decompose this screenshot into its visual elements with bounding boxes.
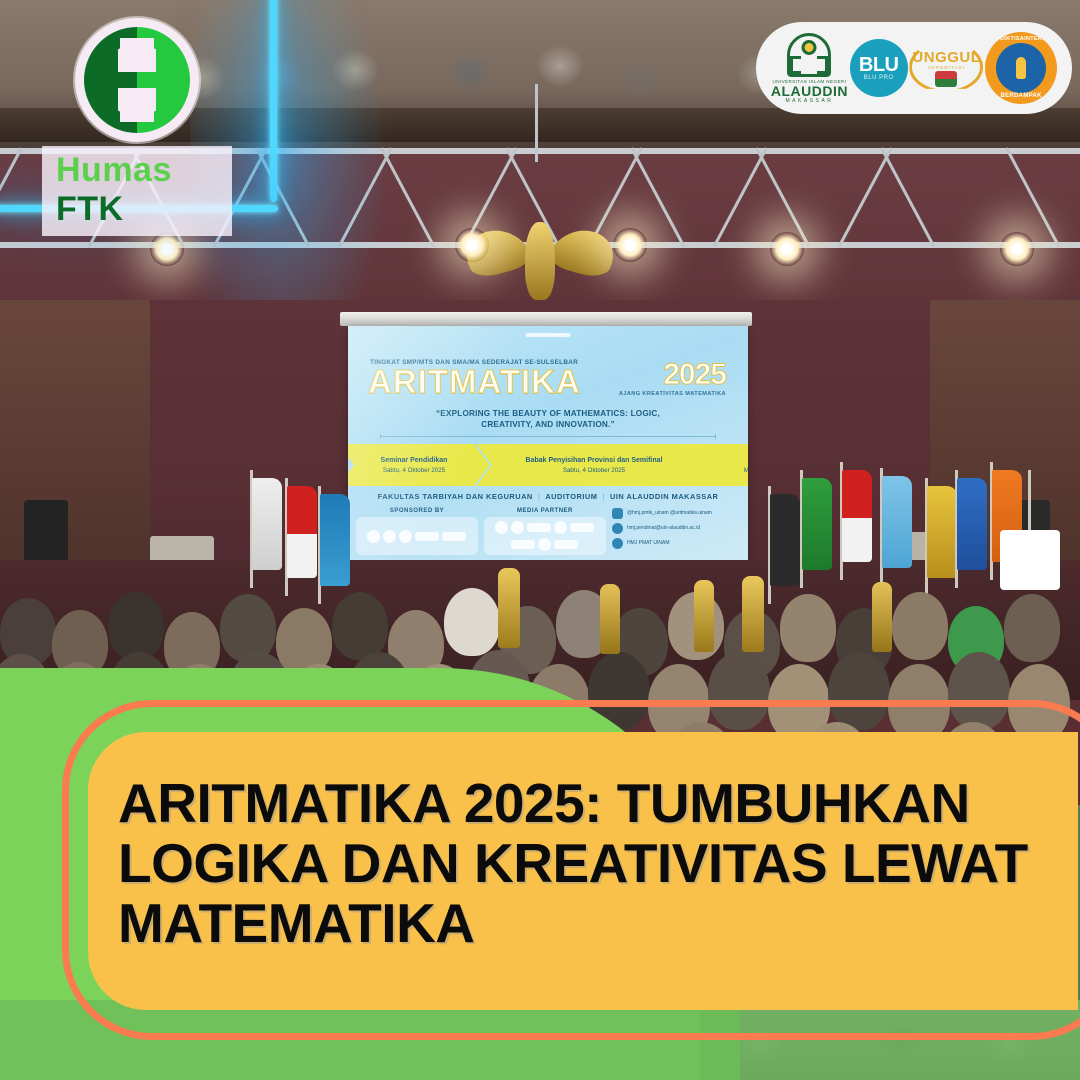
accreditation-logo-pill: UNIVERSITAS ISLAM NEGERI ALAUDDIN MAKASS…: [756, 22, 1072, 114]
poster-canvas: TINGKAT SMP/MTS DAN SMA/MA SEDERAJAT SE-…: [0, 0, 1080, 1080]
poster-stage-chevrons: Seminar Pendidikan Sabtu, 4 Oktober 2025…: [348, 444, 748, 486]
contact-text: @hmj.pmtk_uinam @aritmatika.uinam: [627, 510, 712, 516]
poster-quote-line1: “EXPLORING THE BEAUTY OF MATHEMATICS: LO…: [348, 408, 748, 419]
poster-title: ARITMATIKA: [368, 365, 748, 398]
media-logo-icon: [554, 540, 578, 549]
diktisaintek-berdampak-icon: DIKTISAINTEK BERDAMPAK: [985, 32, 1057, 104]
headline-card: ARITMATIKA 2025: TUMBUHKAN LOGIKA DAN KR…: [88, 732, 1078, 1010]
venue-room: AUDITORIUM: [540, 492, 602, 501]
headline-line-1: ARITMATIKA 2025: TUMBUHKAN: [118, 774, 1028, 834]
uin-line3: MAKASSAR: [786, 98, 834, 104]
media-logo-icon: [527, 523, 551, 532]
dsb-line2: BERDAMPAK: [985, 93, 1057, 99]
media-partner-heading: MEDIA PARTNER: [484, 508, 606, 514]
stage-date: Sabtu, 4 Oktober 2025: [563, 467, 625, 474]
sponsor-logo-icon: [415, 532, 439, 541]
contact-row: @hmj.pmtk_uinam @aritmatika.uinam: [612, 508, 740, 519]
instagram-icon: [612, 508, 623, 519]
uin-alauddin-logo: UNIVERSITAS ISLAM NEGERI ALAUDDIN MAKASS…: [771, 33, 848, 104]
contact-block: @hmj.pmtk_uinam @aritmatika.uinam hmj.pe…: [612, 508, 740, 562]
media-logo-icon: [511, 521, 524, 534]
poster-quote-line2: CREATIVITY, AND INNOVATION.”: [348, 419, 748, 430]
uin-line2: ALAUDDIN: [771, 84, 848, 98]
contact-text: hmj.pendmat@uin-alauddin.ac.id: [627, 525, 700, 531]
stage-chevron: Babak Penyisihan Provinsi dan Semifinal …: [476, 444, 712, 486]
stage-chevron: Seminar Pendidikan Sabtu, 4 Oktober 2025: [348, 444, 490, 486]
media-logo-icon: [554, 521, 567, 534]
venue-faculty: FAKULTAS TARBIYAH DAN KEGURUAN: [373, 492, 538, 501]
media-logo-icon: [511, 540, 535, 549]
stage-spotlight: [150, 232, 184, 266]
blu-badge-icon: BLU BLU PRO: [850, 39, 908, 97]
blu-line2: BLU PRO: [864, 75, 894, 81]
poster-divider: [380, 436, 716, 437]
stage-date: Minggu, 5 Oktober 2025: [744, 467, 748, 474]
sponsor-block: SPONSORED BY: [356, 508, 478, 562]
venue-university: UIN ALAUDDIN MAKASSAR: [605, 492, 723, 501]
media-logo-icon: [538, 538, 551, 551]
stage-chevron: Babak Final Minggu, 5 Oktober 2025: [688, 444, 748, 486]
stage-spotlight: [613, 228, 647, 262]
logo-label-ftk: FTK: [56, 190, 124, 228]
youtube-icon: [612, 538, 623, 549]
poster-venue: FAKULTAS TARBIYAH DAN KEGURUAN|AUDITORIU…: [348, 492, 748, 501]
sponsor-logo-icon: [383, 530, 396, 543]
blu-line1: BLU: [859, 55, 899, 75]
stage-date: Sabtu, 4 Oktober 2025: [383, 467, 445, 474]
unggul-laurel-icon: UNGGUL AKREDITASI: [909, 39, 983, 97]
poster-footer: SPONSORED BY MEDIA PARTNER: [348, 508, 748, 562]
projected-poster: TINGKAT SMP/MTS DAN SMA/MA SEDERAJAT SE-…: [348, 326, 748, 562]
headline-line-2: LOGIKA DAN KREATIVITAS LEWAT: [118, 834, 1028, 894]
sponsor-logos: [356, 517, 478, 555]
sponsor-heading: SPONSORED BY: [356, 508, 478, 514]
poster-year: 2025: [663, 358, 726, 392]
stage-spotlight: [770, 232, 804, 266]
trophy: [600, 584, 620, 654]
projector-screen-housing: [340, 312, 752, 326]
poster-quote: “EXPLORING THE BEAUTY OF MATHEMATICS: LO…: [348, 408, 748, 430]
poster-tingkat: TINGKAT SMP/MTS DAN SMA/MA SEDERAJAT SE-…: [370, 359, 748, 366]
stage-spotlight: [1000, 232, 1034, 266]
humas-ftk-label: Humas FTK: [42, 146, 232, 236]
trophy: [872, 582, 892, 652]
humas-ftk-logo: Humas FTK: [42, 18, 232, 236]
media-partner-block: MEDIA PARTNER: [484, 508, 606, 562]
email-icon: [612, 523, 623, 534]
uin-alauddin-dome-icon: [787, 33, 831, 77]
neon-bracket-vertical: [270, 0, 277, 202]
trophy: [694, 580, 714, 652]
contact-row: HMJ PMAT UINAM: [612, 538, 740, 549]
sponsor-logo-icon: [399, 530, 412, 543]
stage-name: Seminar Pendidikan: [381, 457, 448, 464]
poster-partner-logos: [526, 333, 571, 337]
contact-row: hmj.pendmat@uin-alauddin.ac.id: [612, 523, 740, 534]
humas-ftk-monogram-icon: [75, 18, 199, 142]
contact-text: HMJ PMAT UINAM: [627, 540, 670, 546]
media-logo-icon: [495, 521, 508, 534]
wall-panel-left: [0, 300, 150, 600]
logo-label-humas: Humas: [56, 151, 172, 189]
stage-spotlight: [455, 228, 489, 262]
media-partner-logos: [484, 517, 606, 555]
stage-name: Babak Penyisihan Provinsi dan Semifinal: [526, 457, 663, 464]
trophy: [742, 576, 764, 652]
headline-line-3: MATEMATIKA: [118, 894, 1028, 954]
poster-tagline: AJANG KREATIVITAS MATEMATIKA: [619, 391, 726, 397]
media-logo-icon: [570, 523, 594, 532]
dsb-line1: DIKTISAINTEK: [985, 36, 1057, 42]
sponsor-logo-icon: [367, 530, 380, 543]
sponsor-logo-icon: [442, 532, 466, 541]
trophy: [498, 568, 520, 648]
